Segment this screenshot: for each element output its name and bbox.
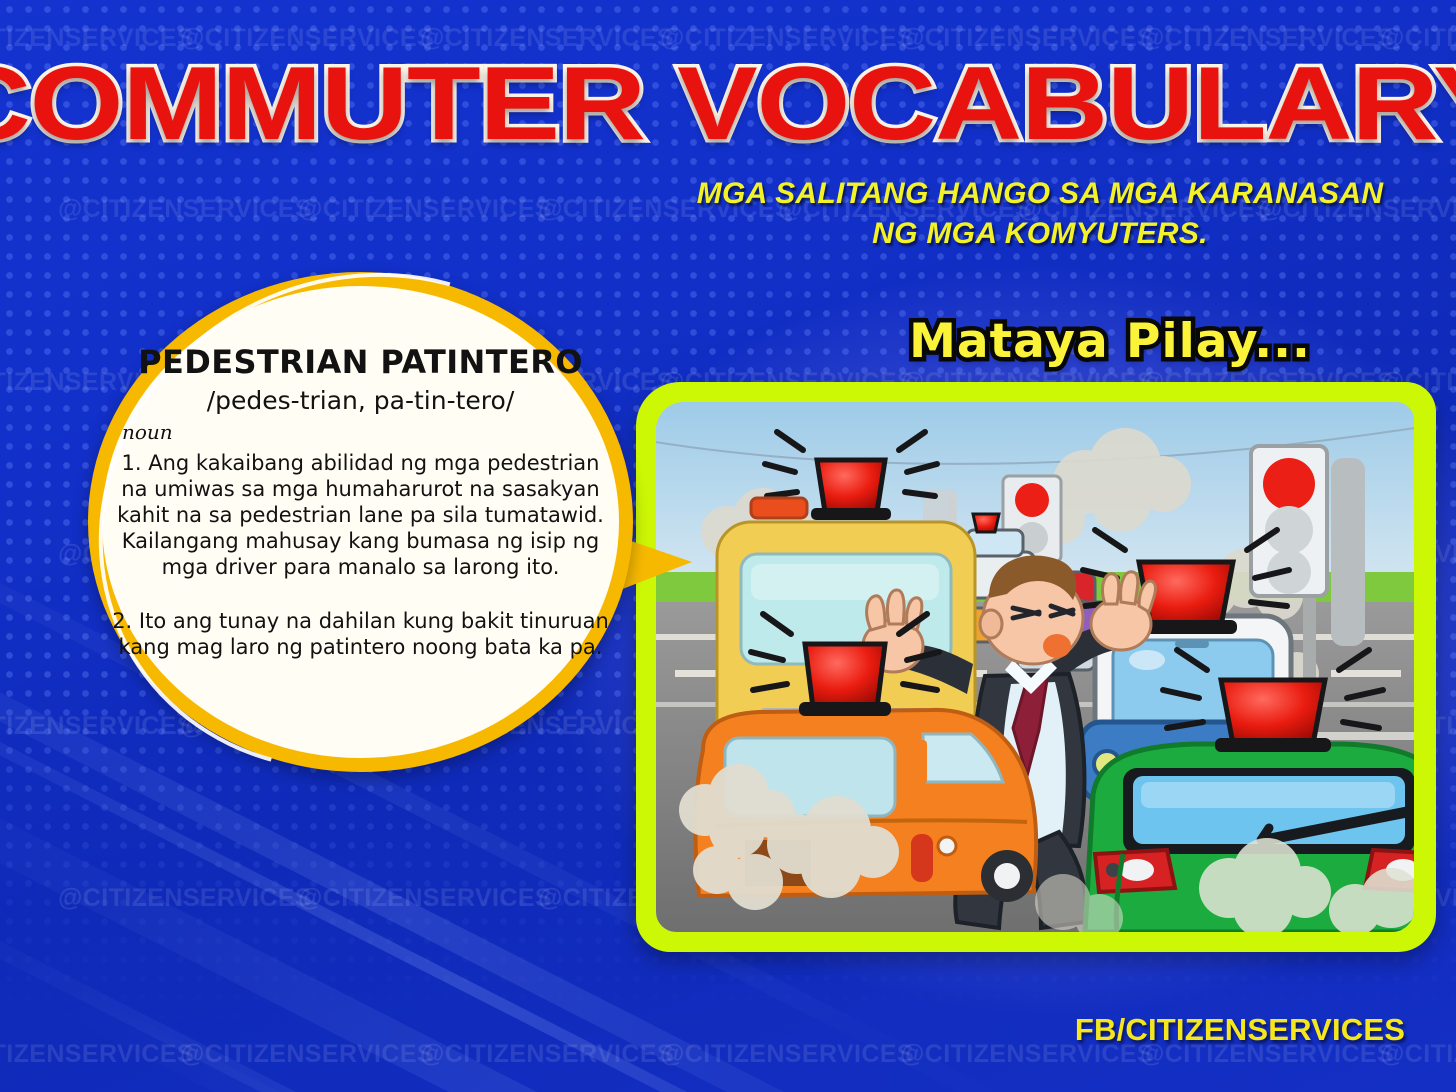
page-title: COMMUTER VOCABULARY (0, 52, 1456, 156)
entry-word: PEDESTRIAN PATINTERO (106, 346, 615, 380)
van-taillight (911, 834, 933, 882)
watermark-text: @CITIZENSERVICES (0, 1040, 194, 1069)
illustration-caption: Mataya Pilay... (900, 318, 1320, 365)
illustration-image (656, 402, 1414, 932)
watermark-text: @CITIZENSERVICES (298, 884, 552, 913)
watermark-text: @CITIZENSERVICES (660, 1040, 914, 1069)
definition-content: PEDESTRIAN PATINTERO /pedes-trian, pa-ti… (106, 346, 615, 660)
definition-sense-2: 2. Ito ang tunay na dahilan kung bakit t… (106, 608, 615, 660)
watermark-text: @CITIZENSERVICES (58, 195, 312, 224)
poster-canvas: @CITIZENSERVICES@CITIZENSERVICES@CITIZEN… (0, 0, 1456, 1092)
definition-bubble: PEDESTRIAN PATINTERO /pedes-trian, pa-ti… (88, 272, 633, 772)
watermark-text: @CITIZENSERVICES (58, 884, 312, 913)
entry-phonetic: /pedes-trian, pa-tin-tero/ (106, 387, 615, 415)
traffic-scene-svg (656, 402, 1414, 932)
page-subtitle: MGA SALITANG HANGO SA MGA KARANASAN NG M… (690, 174, 1390, 254)
watermark-text: @CITIZENSERVICES (180, 1040, 434, 1069)
bus-roof-box (751, 498, 807, 518)
illustration-frame (636, 382, 1436, 952)
definition-sense-1: 1. Ang kakaibang abilidad ng mga pedestr… (106, 450, 615, 580)
watermark-text: @CITIZENSERVICES (298, 195, 552, 224)
van-door-handle (938, 837, 956, 855)
footer-handle: FB/CITIZENSERVICES (1060, 1012, 1420, 1048)
watermark-text: @CITIZENSERVICES (420, 1040, 674, 1069)
entry-part-of-speech: noun (122, 421, 615, 443)
